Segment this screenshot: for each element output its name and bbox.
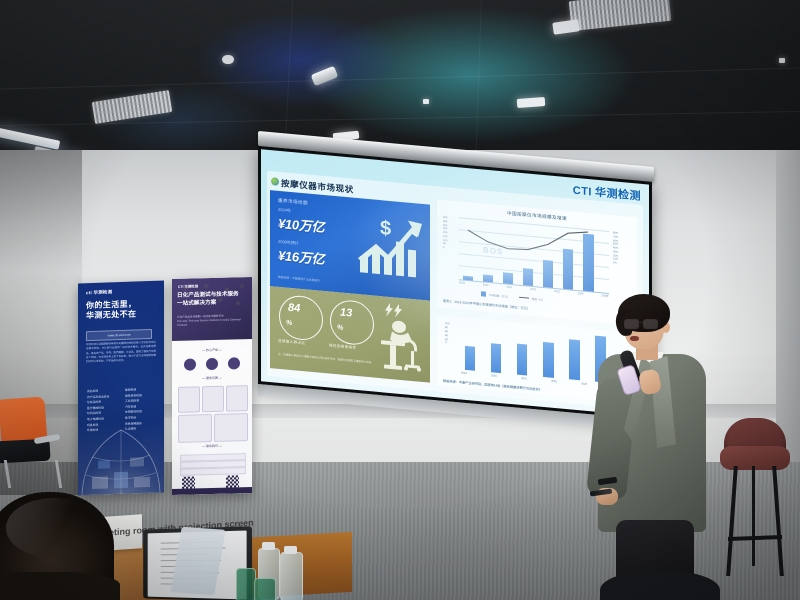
green-tea-bottle[interactable] [236,568,256,600]
chart-1-y2-axis: 80%70%60%50%40%30%20%10%0% [613,231,618,265]
subtitle-en: One-stop Technical Service Platform for … [177,318,241,327]
banner-right-section-2: — 服务范围 — [172,375,252,381]
stat-2-percent: % [337,324,343,332]
x-tick: 2022 [551,380,557,384]
chair-base [4,460,62,488]
ceiling [0,0,800,165]
legend-label-line: 增速（%） [532,296,545,301]
banner-right-section-3: — 联系我们 — [172,443,252,449]
x-tick: 2023 [581,382,587,386]
ceiling-fixture [423,99,429,104]
headline-line-2: 华测无处不在 [86,309,136,320]
market-share-card: 康养市场份额 2024年 ¥10万亿 2030年预计 ¥16万亿 数据来源：中国… [270,190,430,301]
leaf-bullet-icon [271,177,279,186]
service-chip [178,414,212,443]
city-dome-illustration [78,420,164,495]
cti-logo-latin: CTI [573,185,592,199]
stool-footrail [728,535,782,541]
headline-line-1: 日化产品测试与技术服务 [177,291,239,299]
stat-circle-2 [330,299,374,347]
legend-label-bar: 市场规模（亿元） [489,293,510,299]
bar2-2020 [491,343,501,373]
bar2-2021 [517,344,527,376]
audience-hair-highlight [6,498,102,558]
lens-left [624,319,639,329]
stat-1-percent: % [286,320,292,328]
stat-circle-1 [279,294,323,342]
banner-left-logo: cti 华测检测 [86,289,112,296]
banner-right-section-1: — 核心产品 — [172,347,252,353]
strip-light [0,127,60,150]
glasses-bridge [637,322,643,323]
presenter-mouth [630,336,639,341]
stat-2-caption: 慢性疾病患病率 [329,343,356,350]
product-circle-icon [206,358,218,370]
banner-left-headline: 你的生活里， 华测无处不在 [86,299,136,321]
x-tick: 2019 [459,281,465,285]
stat-1-number: 84 [288,302,300,315]
product-circle-icon [184,358,196,370]
health-stats-card: 84 % 亚健康人群占比 13 % 慢性疾病患病率 [270,286,430,383]
water-bottle[interactable] [280,552,303,600]
value-2024: ¥10万亿 [278,213,324,236]
photo-scene: CTI华测检测 按摩仪器市场现状 康养市场份额 2024年 ¥10万亿 2030… [0,0,800,600]
dome-graphic [78,420,164,495]
smoke-detector-icon [222,55,234,64]
recessed-spotlight [311,66,339,86]
stat-2-number: 13 [340,306,352,319]
recessed-spotlight [517,97,546,108]
ceiling-seam [475,0,482,165]
stool-leg [752,466,755,566]
stat-1-caption: 亚健康人群占比 [278,339,305,346]
air-vent [569,0,672,31]
x-tick: 2021 [521,377,527,381]
service-chip [226,385,248,412]
recessed-spotlight [779,58,785,63]
x-tick: 2022 [530,288,536,292]
chart-2-y-axis: 100806040200 [445,322,449,346]
x-tick: 2020 [491,374,497,378]
x-tick: 2024 [578,292,584,296]
air-vent [92,90,172,124]
product-circle-icon [228,357,240,369]
bottle-cap [262,542,275,550]
chart-1-legend: 市场规模（亿元） 增速（%） [481,291,544,302]
x-tick: 2023 [554,290,560,294]
x-tick: 2019 [461,371,467,375]
bottle-cap [284,546,297,554]
service-chip [178,386,200,413]
stool-leg [726,466,738,576]
svg-text:$: $ [380,217,391,240]
banner-right-subtitle: 日化产品全生命周期一站式技术服务平台 One-stop Technical Se… [177,314,247,328]
stool-leg [772,466,784,576]
value-2030: ¥16万亿 [278,245,324,268]
bar-stool[interactable] [718,418,792,578]
bar2-2019 [465,346,475,371]
chart-1-y-axis: 400350300250200150100500 [443,216,447,250]
service-chip [202,386,224,413]
eyeglasses-icon [624,319,658,328]
headline-line-2: 一站式解决方案 [177,299,216,306]
chart-1-note: 图表1：2019-2025年中国小型按摩仪市场规模（单位：亿元） [443,298,530,311]
banner-left-url: www.cti-cert.com [86,329,152,341]
stool-seat [720,446,790,470]
market-share-label: 康养市场份额 [278,198,308,207]
banner-left-paragraph: 华测检测认证集团股份有限公司是国内领先的第三方检验检测认证服务机构，为众多行业提… [86,341,156,365]
bar2-2023 [569,339,580,380]
x-tick: 2020 [483,283,489,287]
chart-1-plot: BOS [459,217,609,293]
ceiling-seam [0,68,800,90]
service-chip [214,413,248,442]
x-tick: 2021 [506,286,512,290]
audience-shoulder [0,572,120,600]
recessed-spotlight [552,19,579,35]
legend-swatch-line [519,297,529,299]
banner-right-logo: CTI 华测检测 [178,283,198,289]
blue-card-footnote: 数据来源：中国康养产业发展报告 [278,275,368,287]
bar2-2022 [543,342,554,378]
roll-up-banner-right: CTI 华测检测 日化产品测试与技术服务 一站式解决方案 日化产品全生命周期一站… [172,277,252,495]
roll-up-banner-left: cti 华测检测 你的生活里， 华测无处不在 www.cti-cert.com … [78,280,164,495]
green-tea-bottle[interactable] [254,578,276,600]
lens-right [643,319,658,329]
banner-right-headline: 日化产品测试与技术服务 一站式解决方案 [177,291,249,308]
growth-arrow-dollar-icon: $ [356,212,422,280]
presenter [588,292,716,582]
headline-line-1: 你的生活里， [86,299,136,310]
legend-swatch-bar [481,291,486,296]
